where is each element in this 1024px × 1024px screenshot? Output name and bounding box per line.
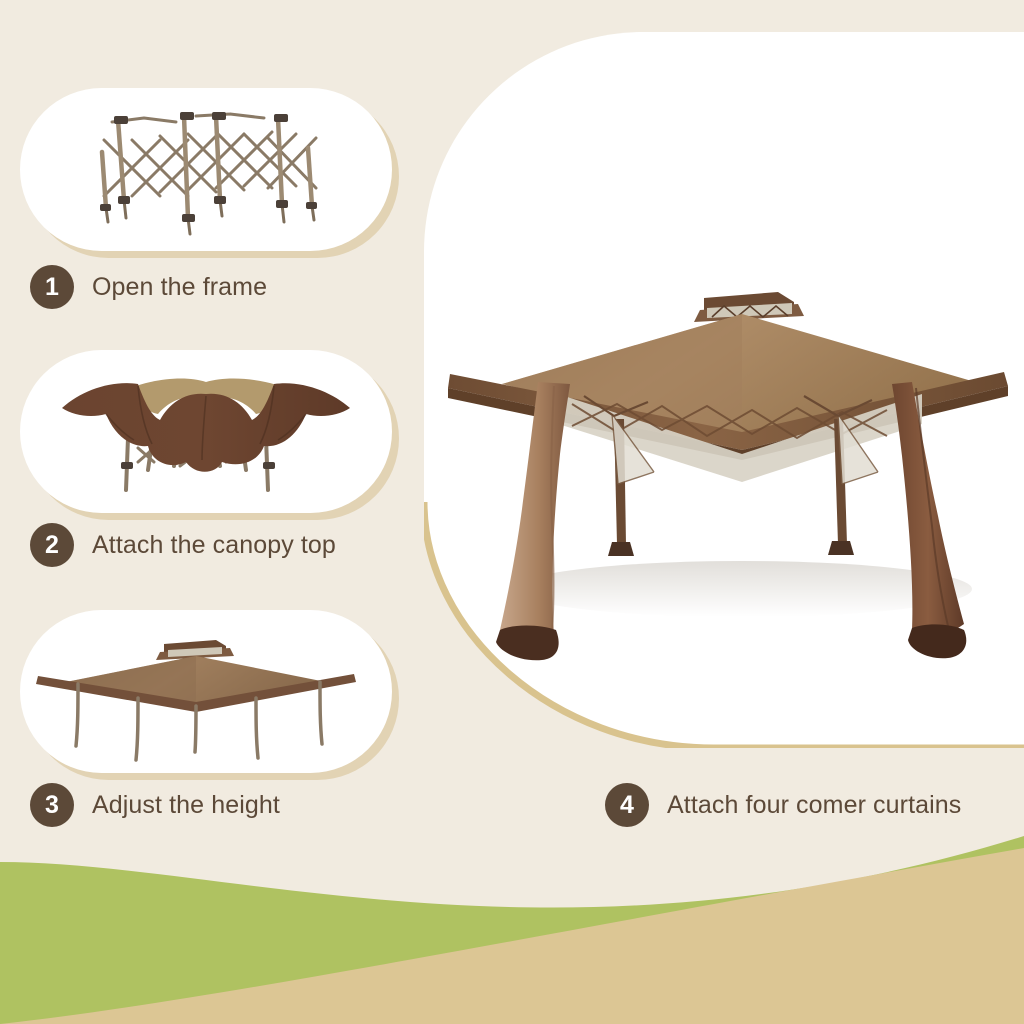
hero-gazebo-illustration xyxy=(442,264,1012,684)
step-caption-1: 1 Open the frame xyxy=(30,265,267,309)
step-caption-4: 4 Attach four comer curtains xyxy=(605,783,961,827)
gazebo-canopy-draped-illustration xyxy=(20,350,392,513)
step-badge-3: 3 xyxy=(30,783,74,827)
card-2-face xyxy=(20,350,392,513)
step-label-3: Adjust the height xyxy=(92,791,280,820)
infographic-canvas: 1 Open the frame 2 Attach the canopy top… xyxy=(0,0,1024,1024)
card-1-face xyxy=(20,88,392,251)
card-3-face xyxy=(20,610,392,773)
green-band-shape-upper xyxy=(0,836,1024,1024)
tan-band-shape xyxy=(0,848,1024,1024)
step-badge-4: 4 xyxy=(605,783,649,827)
green-band-shape xyxy=(0,905,470,1024)
ground-shadow xyxy=(512,561,972,617)
step-card-1 xyxy=(20,88,392,251)
curtain-right-foot xyxy=(908,624,966,658)
gazebo-frame-expanded-illustration xyxy=(20,88,392,251)
step-badge-1: 1 xyxy=(30,265,74,309)
curtain-left-foot xyxy=(496,626,559,661)
step-caption-3: 3 Adjust the height xyxy=(30,783,280,827)
step-label-1: Open the frame xyxy=(92,273,267,302)
step-label-2: Attach the canopy top xyxy=(92,531,336,560)
step-caption-2: 2 Attach the canopy top xyxy=(30,523,336,567)
gazebo-assembled-low-illustration xyxy=(20,610,392,773)
step-card-2 xyxy=(20,350,392,513)
step-badge-2: 2 xyxy=(30,523,74,567)
step-card-3 xyxy=(20,610,392,773)
hero-image-wrap xyxy=(424,32,1024,748)
step-label-4: Attach four comer curtains xyxy=(667,791,961,820)
